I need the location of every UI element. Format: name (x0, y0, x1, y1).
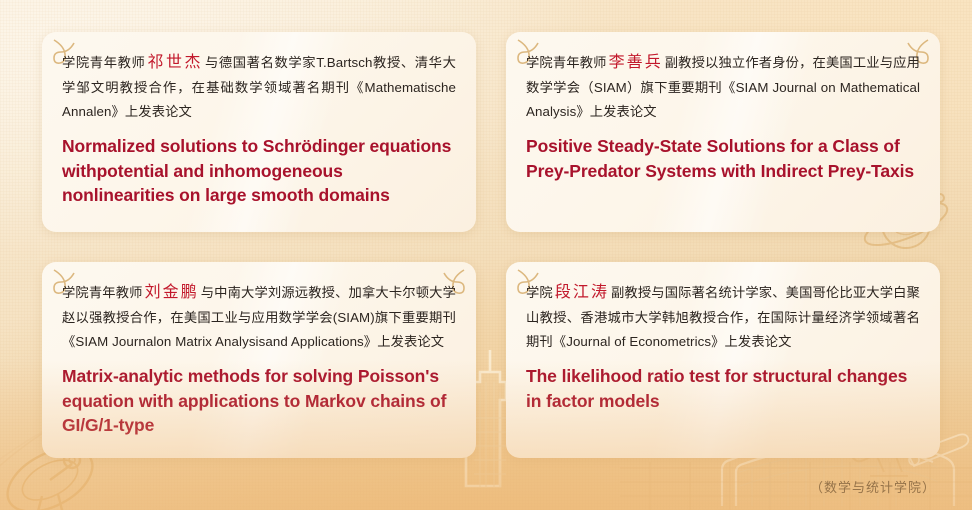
card-1-author-name: 祁世杰 (145, 52, 205, 71)
card-2-desc-prefix: 学院青年教师 (526, 55, 607, 70)
card-3-desc-prefix: 学院青年教师 (62, 285, 143, 300)
news-card-3[interactable]: 学院青年教师刘金鹏与中南大学刘源远教授、加拿大卡尔顿大学赵以强教授合作，在美国工… (42, 262, 476, 458)
card-4-author-name: 段江涛 (553, 282, 611, 301)
card-2-content: 学院青年教师李善兵副教授以独立作者身份，在美国工业与应用数学学会（SIAM）旗下… (506, 32, 940, 193)
card-1-desc-prefix: 学院青年教师 (62, 55, 145, 70)
card-3-title: Matrix-analytic methods for solving Pois… (62, 364, 456, 439)
card-4-title: The likelihood ratio test for structural… (526, 364, 920, 414)
card-4-desc-prefix: 学院 (526, 285, 553, 300)
card-2-title: Positive Steady-State Solutions for a Cl… (526, 134, 920, 184)
card-4-description: 学院段江涛副教授与国际著名统计学家、美国哥伦比亚大学白聚山教授、香港城市大学韩旭… (526, 278, 920, 354)
card-1-title: Normalized solutions to Schrödinger equa… (62, 134, 456, 209)
card-3-author-name: 刘金鹏 (143, 282, 201, 301)
card-3-description: 学院青年教师刘金鹏与中南大学刘源远教授、加拿大卡尔顿大学赵以强教授合作，在美国工… (62, 278, 456, 354)
card-2-description: 学院青年教师李善兵副教授以独立作者身份，在美国工业与应用数学学会（SIAM）旗下… (526, 48, 920, 124)
card-4-content: 学院段江涛副教授与国际著名统计学家、美国哥伦比亚大学白聚山教授、香港城市大学韩旭… (506, 262, 940, 423)
news-card-4[interactable]: 学院段江涛副教授与国际著名统计学家、美国哥伦比亚大学白聚山教授、香港城市大学韩旭… (506, 262, 940, 458)
news-card-grid: 学院青年教师祁世杰与德国著名数学家T.Bartsch教授、清华大学邹文明教授合作… (0, 0, 972, 510)
news-card-2[interactable]: 学院青年教师李善兵副教授以独立作者身份，在美国工业与应用数学学会（SIAM）旗下… (506, 32, 940, 232)
footer-credit: （数学与统计学院） (810, 477, 936, 496)
card-2-author-name: 李善兵 (607, 52, 665, 71)
card-3-content: 学院青年教师刘金鹏与中南大学刘源远教授、加拿大卡尔顿大学赵以强教授合作，在美国工… (42, 262, 476, 448)
poster-canvas: 学院青年教师祁世杰与德国著名数学家T.Bartsch教授、清华大学邹文明教授合作… (0, 0, 972, 510)
card-1-content: 学院青年教师祁世杰与德国著名数学家T.Bartsch教授、清华大学邹文明教授合作… (42, 32, 476, 218)
news-card-1[interactable]: 学院青年教师祁世杰与德国著名数学家T.Bartsch教授、清华大学邹文明教授合作… (42, 32, 476, 232)
card-1-description: 学院青年教师祁世杰与德国著名数学家T.Bartsch教授、清华大学邹文明教授合作… (62, 48, 456, 124)
